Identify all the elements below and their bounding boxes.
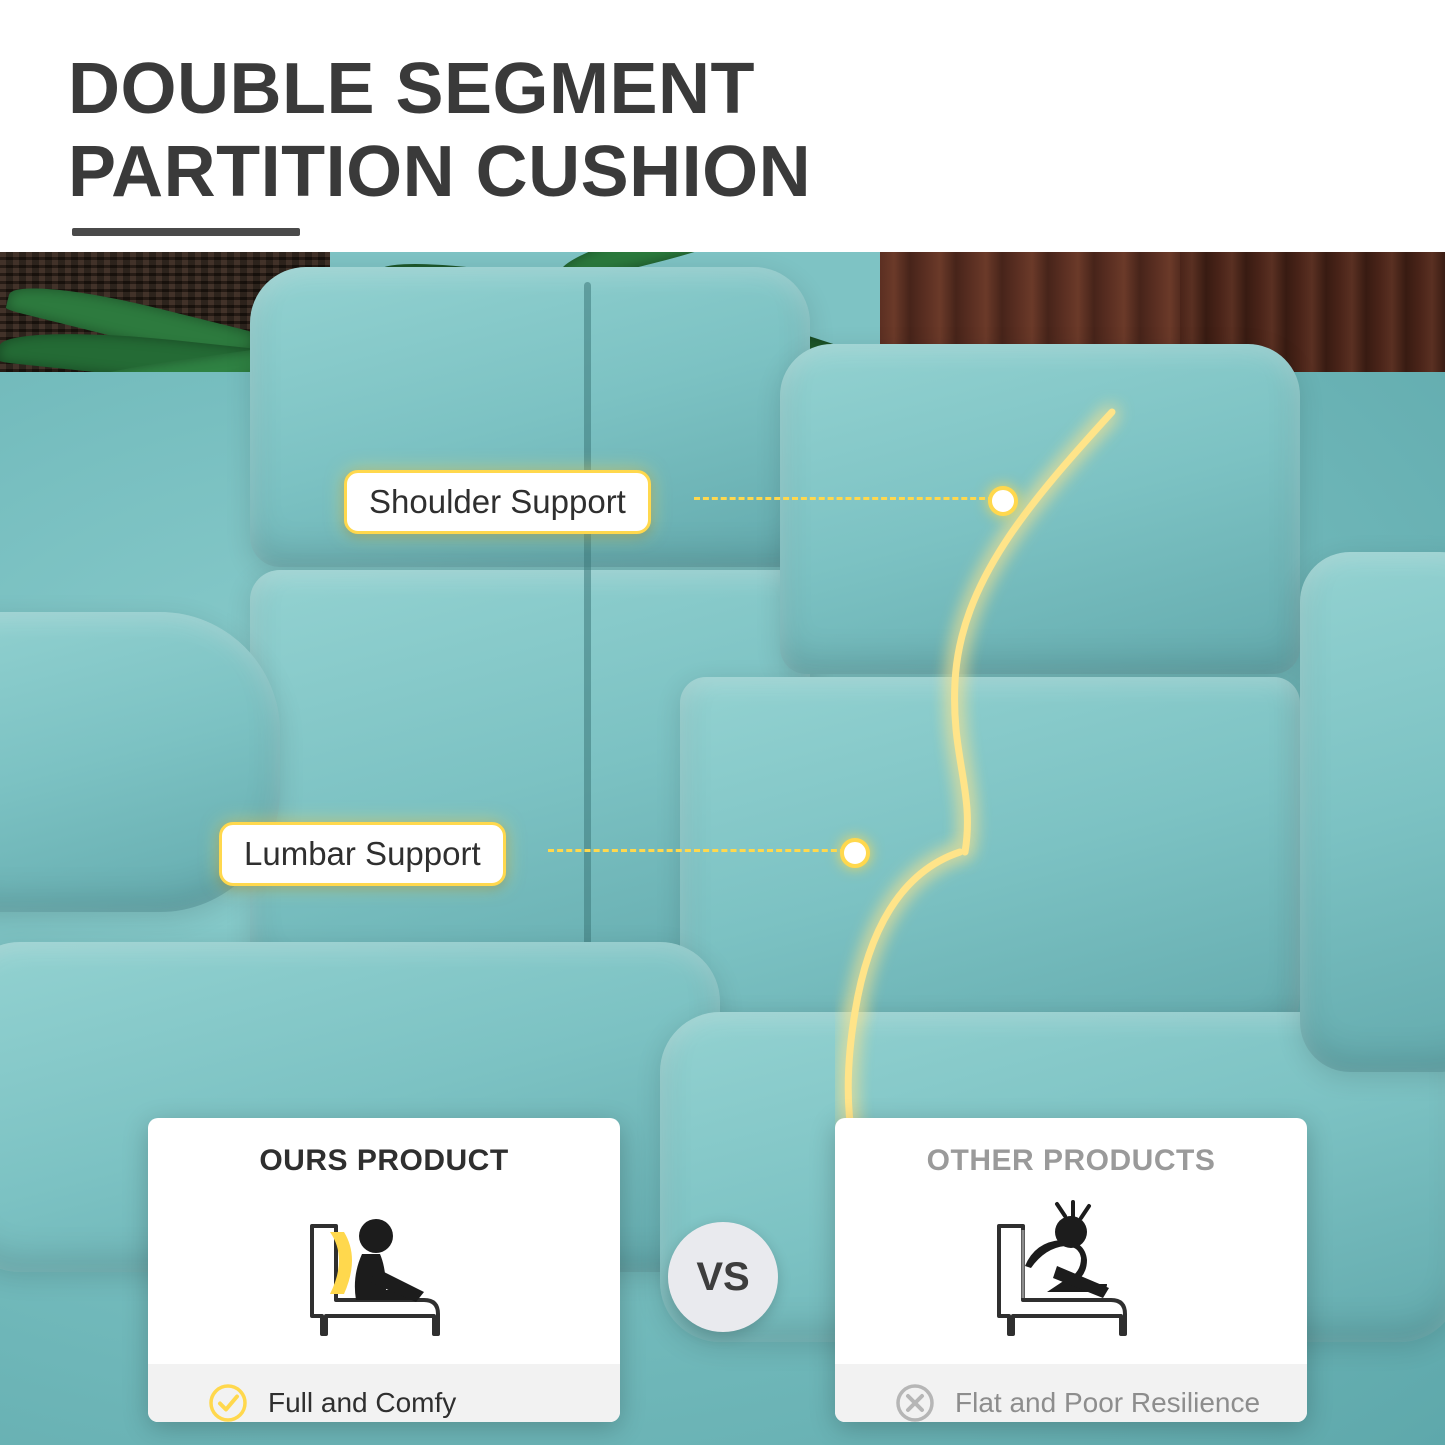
right-back-cushion-lower [680, 677, 1300, 1047]
ours-product-figure [148, 1178, 620, 1364]
vs-label: VS [696, 1255, 749, 1300]
callout-lumbar-anchor-dot [840, 838, 870, 868]
other-products-card: OTHER PRODUCTS [835, 1118, 1307, 1422]
other-products-figure [835, 1178, 1307, 1364]
other-products-footer: Flat and Poor Resilience [835, 1364, 1307, 1422]
ours-product-card: OURS PRODUCT Full and Com [148, 1118, 620, 1422]
header-band: DOUBLE SEGMENT PARTITION CUSHION [0, 0, 1445, 252]
callout-lumbar-leader-line [548, 849, 846, 852]
callout-shoulder-label: Shoulder Support [369, 483, 626, 520]
ours-product-footer: Full and Comfy [148, 1364, 620, 1422]
callout-shoulder-support[interactable]: Shoulder Support [344, 470, 651, 534]
right-side-panel [1300, 552, 1445, 1072]
callout-shoulder-anchor-dot [988, 486, 1018, 516]
product-infographic: DOUBLE SEGMENT PARTITION CUSHION [0, 0, 1445, 1445]
cross-circle-icon [895, 1383, 935, 1422]
ours-product-footer-label: Full and Comfy [268, 1387, 456, 1419]
left-cushion-vertical-seam [584, 282, 591, 982]
other-products-title: OTHER PRODUCTS [835, 1118, 1307, 1178]
right-back-cushion-upper [780, 344, 1300, 674]
page-title: DOUBLE SEGMENT PARTITION CUSHION [68, 48, 1268, 214]
title-underline-rule [72, 228, 300, 236]
callout-shoulder-leader-line [694, 497, 994, 500]
callout-lumbar-support[interactable]: Lumbar Support [219, 822, 506, 886]
other-products-footer-label: Flat and Poor Resilience [955, 1387, 1260, 1419]
check-circle-icon [208, 1383, 248, 1422]
good-posture-icon [274, 1196, 494, 1346]
product-photo: Shoulder Support Lumbar Support OURS PRO… [0, 252, 1445, 1445]
callout-lumbar-label: Lumbar Support [244, 835, 481, 872]
vs-badge: VS [668, 1222, 778, 1332]
ours-product-title: OURS PRODUCT [148, 1118, 620, 1178]
bad-posture-icon [961, 1196, 1181, 1346]
